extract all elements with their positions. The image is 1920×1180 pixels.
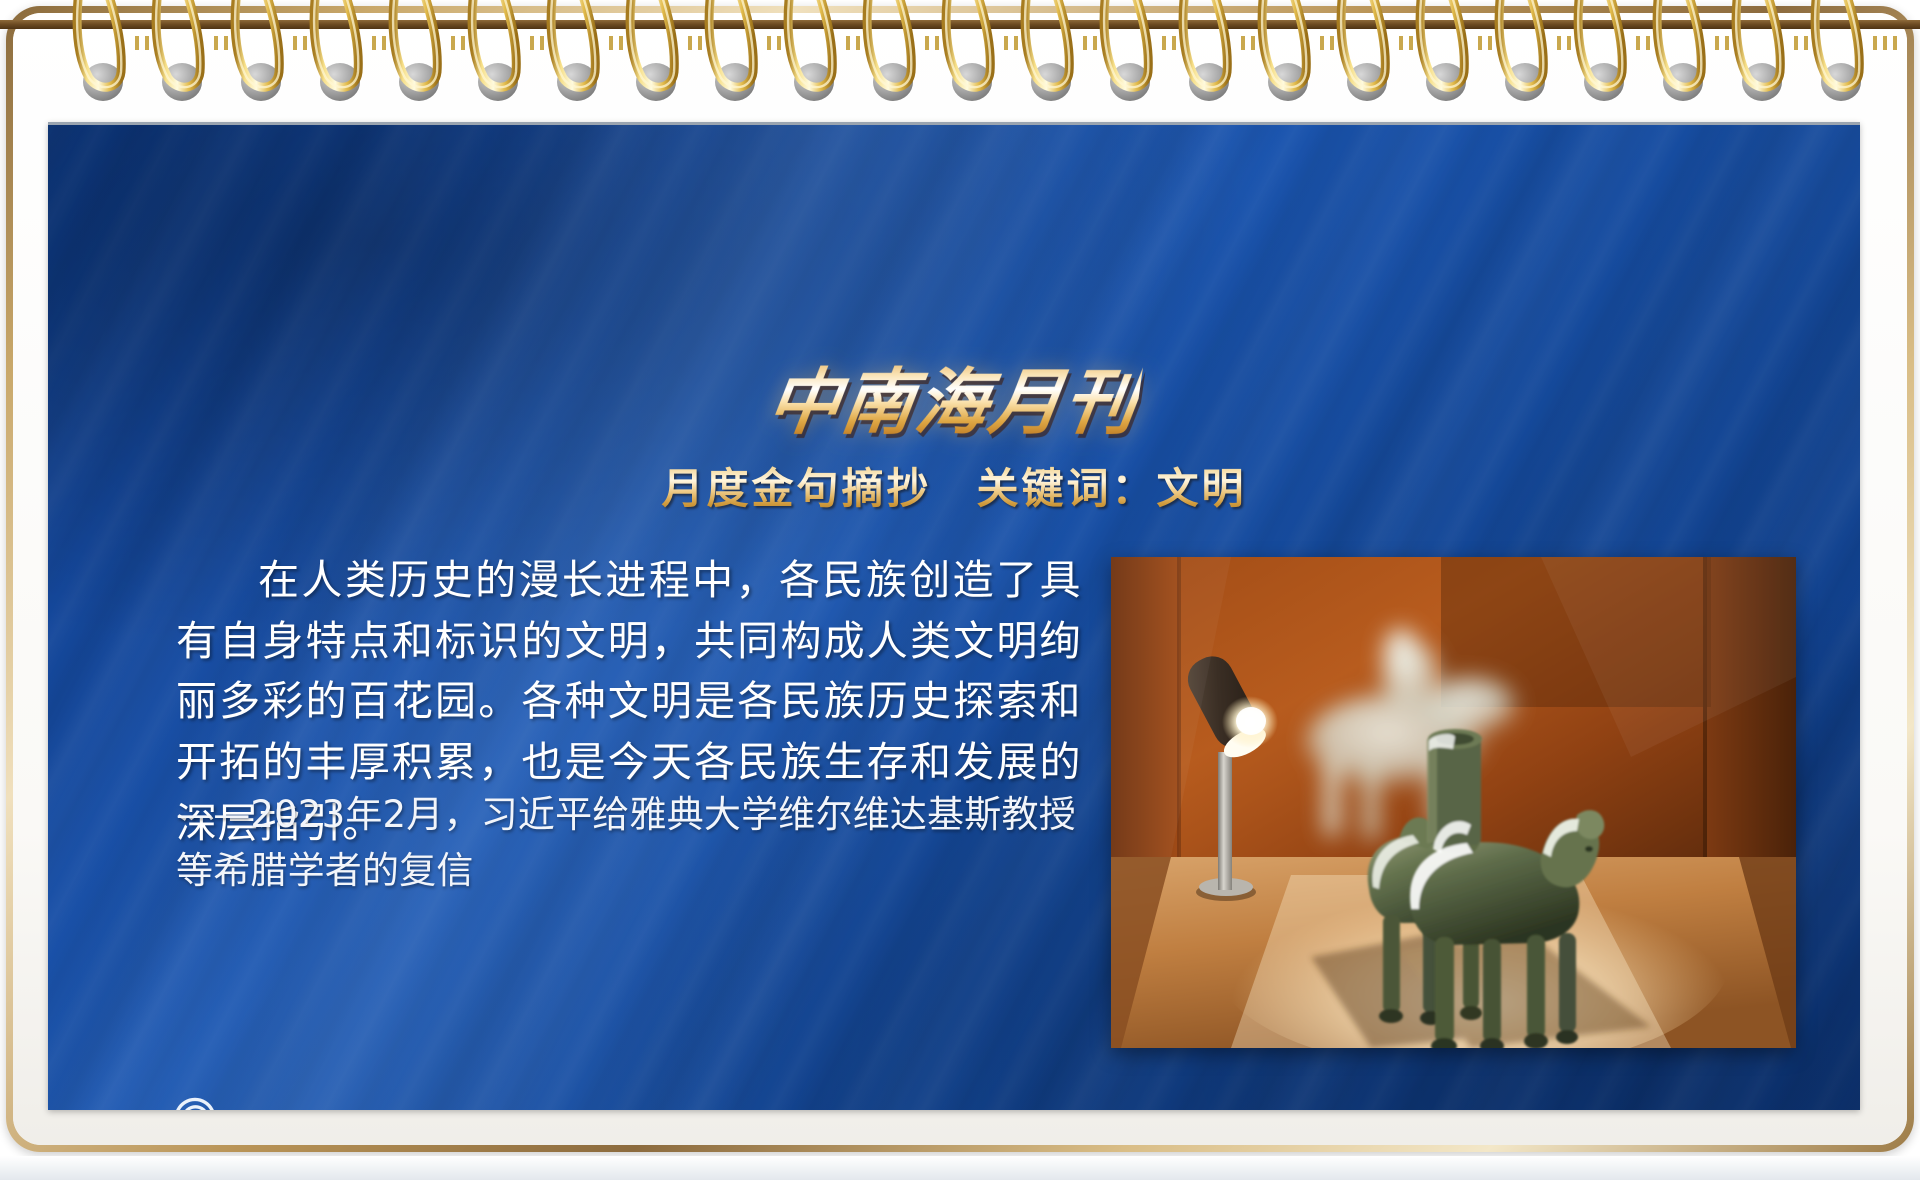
slide-root: 中南海月刊 月度金句摘抄 关键词：文明 在人类历史的漫长进程中，各民族创造了具有… (0, 0, 1920, 1180)
title-container: 中南海月刊 (48, 343, 1860, 448)
subtitle-container: 月度金句摘抄 关键词：文明 (48, 455, 1860, 516)
page-subtitle: 月度金句摘抄 关键词：文明 (661, 455, 1246, 516)
quote-attribution: ——2023年2月，习近平给雅典大学维尔维达基斯教授等希腊学者的复信 (176, 787, 1081, 899)
tap-hand-icon[interactable] (158, 1080, 244, 1110)
artifact-photo (1111, 557, 1796, 1048)
page-title: 中南海月刊 (762, 343, 1147, 448)
content-panel: 中南海月刊 月度金句摘抄 关键词：文明 在人类历史的漫长进程中，各民族创造了具有… (48, 122, 1860, 1110)
bottom-strip (0, 1156, 1920, 1180)
